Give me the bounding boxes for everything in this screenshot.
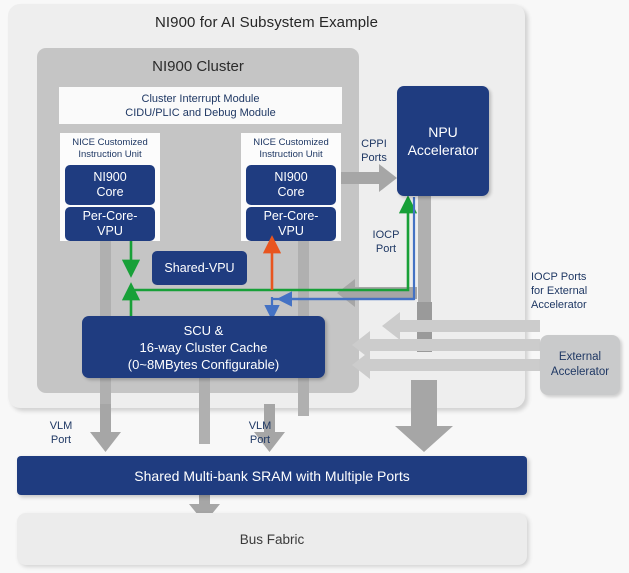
cluster-title: NI900 Cluster <box>37 58 359 75</box>
ni900-core-0-line2: Core <box>96 185 123 200</box>
nice-unit-0-label-line2: Instruction Unit <box>78 149 141 160</box>
ni900-core-1-line1: NI900 <box>274 170 307 185</box>
ni900-core-0: NI900 Core <box>65 165 155 205</box>
scu-line3: (0~8MBytes Configurable) <box>128 356 279 373</box>
vbar-npu-iocp-merge <box>417 302 432 352</box>
interrupt-module-line1: Cluster Interrupt Module <box>142 92 260 106</box>
vlm-port-label-0: VLM Port <box>41 419 81 447</box>
nice-customized-instruction-unit-1: NICE Customized Instruction Unit NI900 C… <box>241 133 341 241</box>
nice-unit-1-label-line1: NICE Customized <box>253 137 329 148</box>
npu-line2: Accelerator <box>408 141 479 159</box>
nice-unit-0-label: NICE Customized Instruction Unit <box>72 137 148 161</box>
vbar-core1-down <box>298 372 309 416</box>
vbar-scu-down <box>199 372 210 444</box>
vlm-port-label-1-line2: Port <box>250 434 270 446</box>
npu-line1: NPU <box>428 123 458 141</box>
external-accelerator-block: External Accelerator <box>540 335 620 395</box>
external-accelerator-line1: External <box>559 350 601 365</box>
iocp-ports-external-label: IOCP Ports for External Accelerator <box>531 270 621 312</box>
vlm-port-label-0-line2: Port <box>51 434 71 446</box>
vlm-port-label-1: VLM Port <box>240 419 280 447</box>
cppi-ports-label-line2: Ports <box>361 152 387 164</box>
cluster-interrupt-module: Cluster Interrupt Module CIDU/PLIC and D… <box>59 87 342 124</box>
scu-cluster-cache-block: SCU & 16-way Cluster Cache (0~8MBytes Co… <box>82 316 325 378</box>
nice-customized-instruction-unit-0: NICE Customized Instruction Unit NI900 C… <box>60 133 160 241</box>
per-core-vpu-0-line2: VPU <box>97 224 123 239</box>
per-core-vpu-1-line2: VPU <box>278 224 304 239</box>
vbar-core0-down <box>100 372 111 416</box>
page-title: NI900 for AI Subsystem Example <box>8 14 525 31</box>
ni900-core-1-line2: Core <box>277 185 304 200</box>
ni900-core-0-line1: NI900 <box>93 170 126 185</box>
npu-accelerator-block: NPU Accelerator <box>397 86 489 196</box>
iocp-port-label-line1: IOCP <box>373 229 400 241</box>
nice-unit-0-label-line1: NICE Customized <box>72 137 148 148</box>
scu-line1: SCU & <box>184 322 224 339</box>
shared-sram-block: Shared Multi-bank SRAM with Multiple Por… <box>17 456 527 495</box>
scu-line2: 16-way Cluster Cache <box>140 339 268 356</box>
external-accelerator-line2: Accelerator <box>551 365 609 380</box>
shared-vpu-block: Shared-VPU <box>152 251 247 285</box>
cppi-ports-label-line1: CPPI <box>361 138 387 150</box>
iocp-ext-label-line3: Accelerator <box>531 299 587 311</box>
ni900-core-1: NI900 Core <box>246 165 336 205</box>
iocp-port-label: IOCP Port <box>366 228 406 256</box>
per-core-vpu-0: Per-Core- VPU <box>65 207 155 241</box>
iocp-ext-label-line1: IOCP Ports <box>531 271 586 283</box>
iocp-port-label-line2: Port <box>376 243 396 255</box>
vlm-port-label-1-line1: VLM <box>249 420 272 432</box>
nice-unit-1-label: NICE Customized Instruction Unit <box>253 137 329 161</box>
iocp-ext-label-line2: for External <box>531 285 587 297</box>
cppi-ports-label: CPPI Ports <box>352 137 396 165</box>
vlm-port-label-0-line1: VLM <box>50 420 73 432</box>
per-core-vpu-1-line1: Per-Core- <box>264 209 319 224</box>
per-core-vpu-1: Per-Core- VPU <box>246 207 336 241</box>
bus-fabric-block: Bus Fabric <box>17 513 527 565</box>
nice-unit-1-label-line2: Instruction Unit <box>259 149 322 160</box>
interrupt-module-line2: CIDU/PLIC and Debug Module <box>125 106 275 120</box>
per-core-vpu-0-line1: Per-Core- <box>83 209 138 224</box>
diagram-canvas: NI900 for AI Subsystem Example NI900 Clu… <box>0 0 629 573</box>
